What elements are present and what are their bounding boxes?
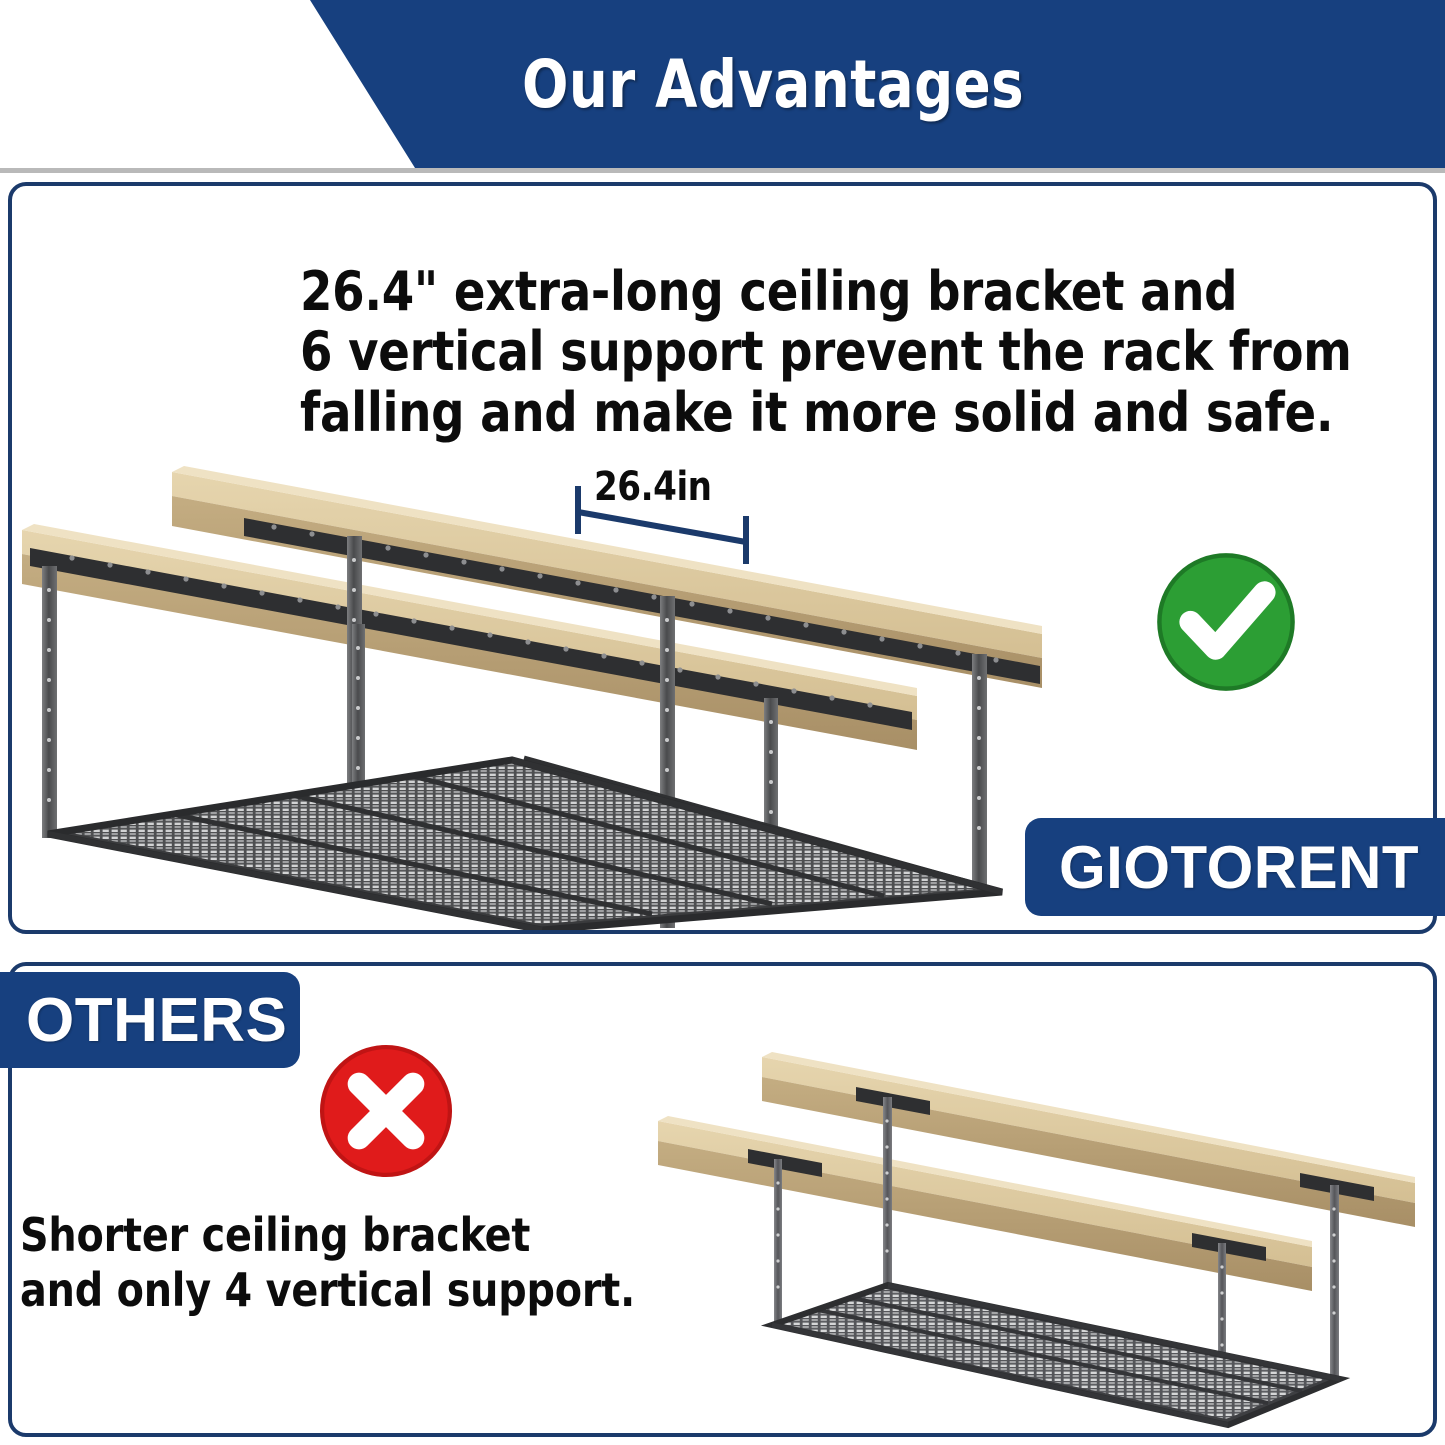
page-title: Our Advantages <box>58 0 1387 168</box>
advantage-product-illustration <box>12 430 1042 930</box>
dimension-label: 26.4in <box>594 464 712 510</box>
x-circle-icon <box>315 1040 457 1182</box>
infographic-canvas: Our Advantages 26.4" extra-long ceiling … <box>0 0 1445 1445</box>
check-circle-icon <box>1152 548 1300 696</box>
advantage-headline: 26.4" extra-long ceiling bracket and 6 v… <box>300 262 1390 443</box>
header-banner: Our Advantages <box>0 0 1445 168</box>
brand-badge: GIOTORENT <box>1025 818 1445 916</box>
header-divider <box>0 168 1445 177</box>
dimension-annotation: 26.4in <box>556 468 796 568</box>
wire-mesh-shelf <box>48 758 1002 930</box>
wire-mesh-shelf <box>772 1285 1340 1425</box>
others-product-illustration <box>640 1035 1430 1430</box>
others-badge: OTHERS <box>0 972 300 1068</box>
